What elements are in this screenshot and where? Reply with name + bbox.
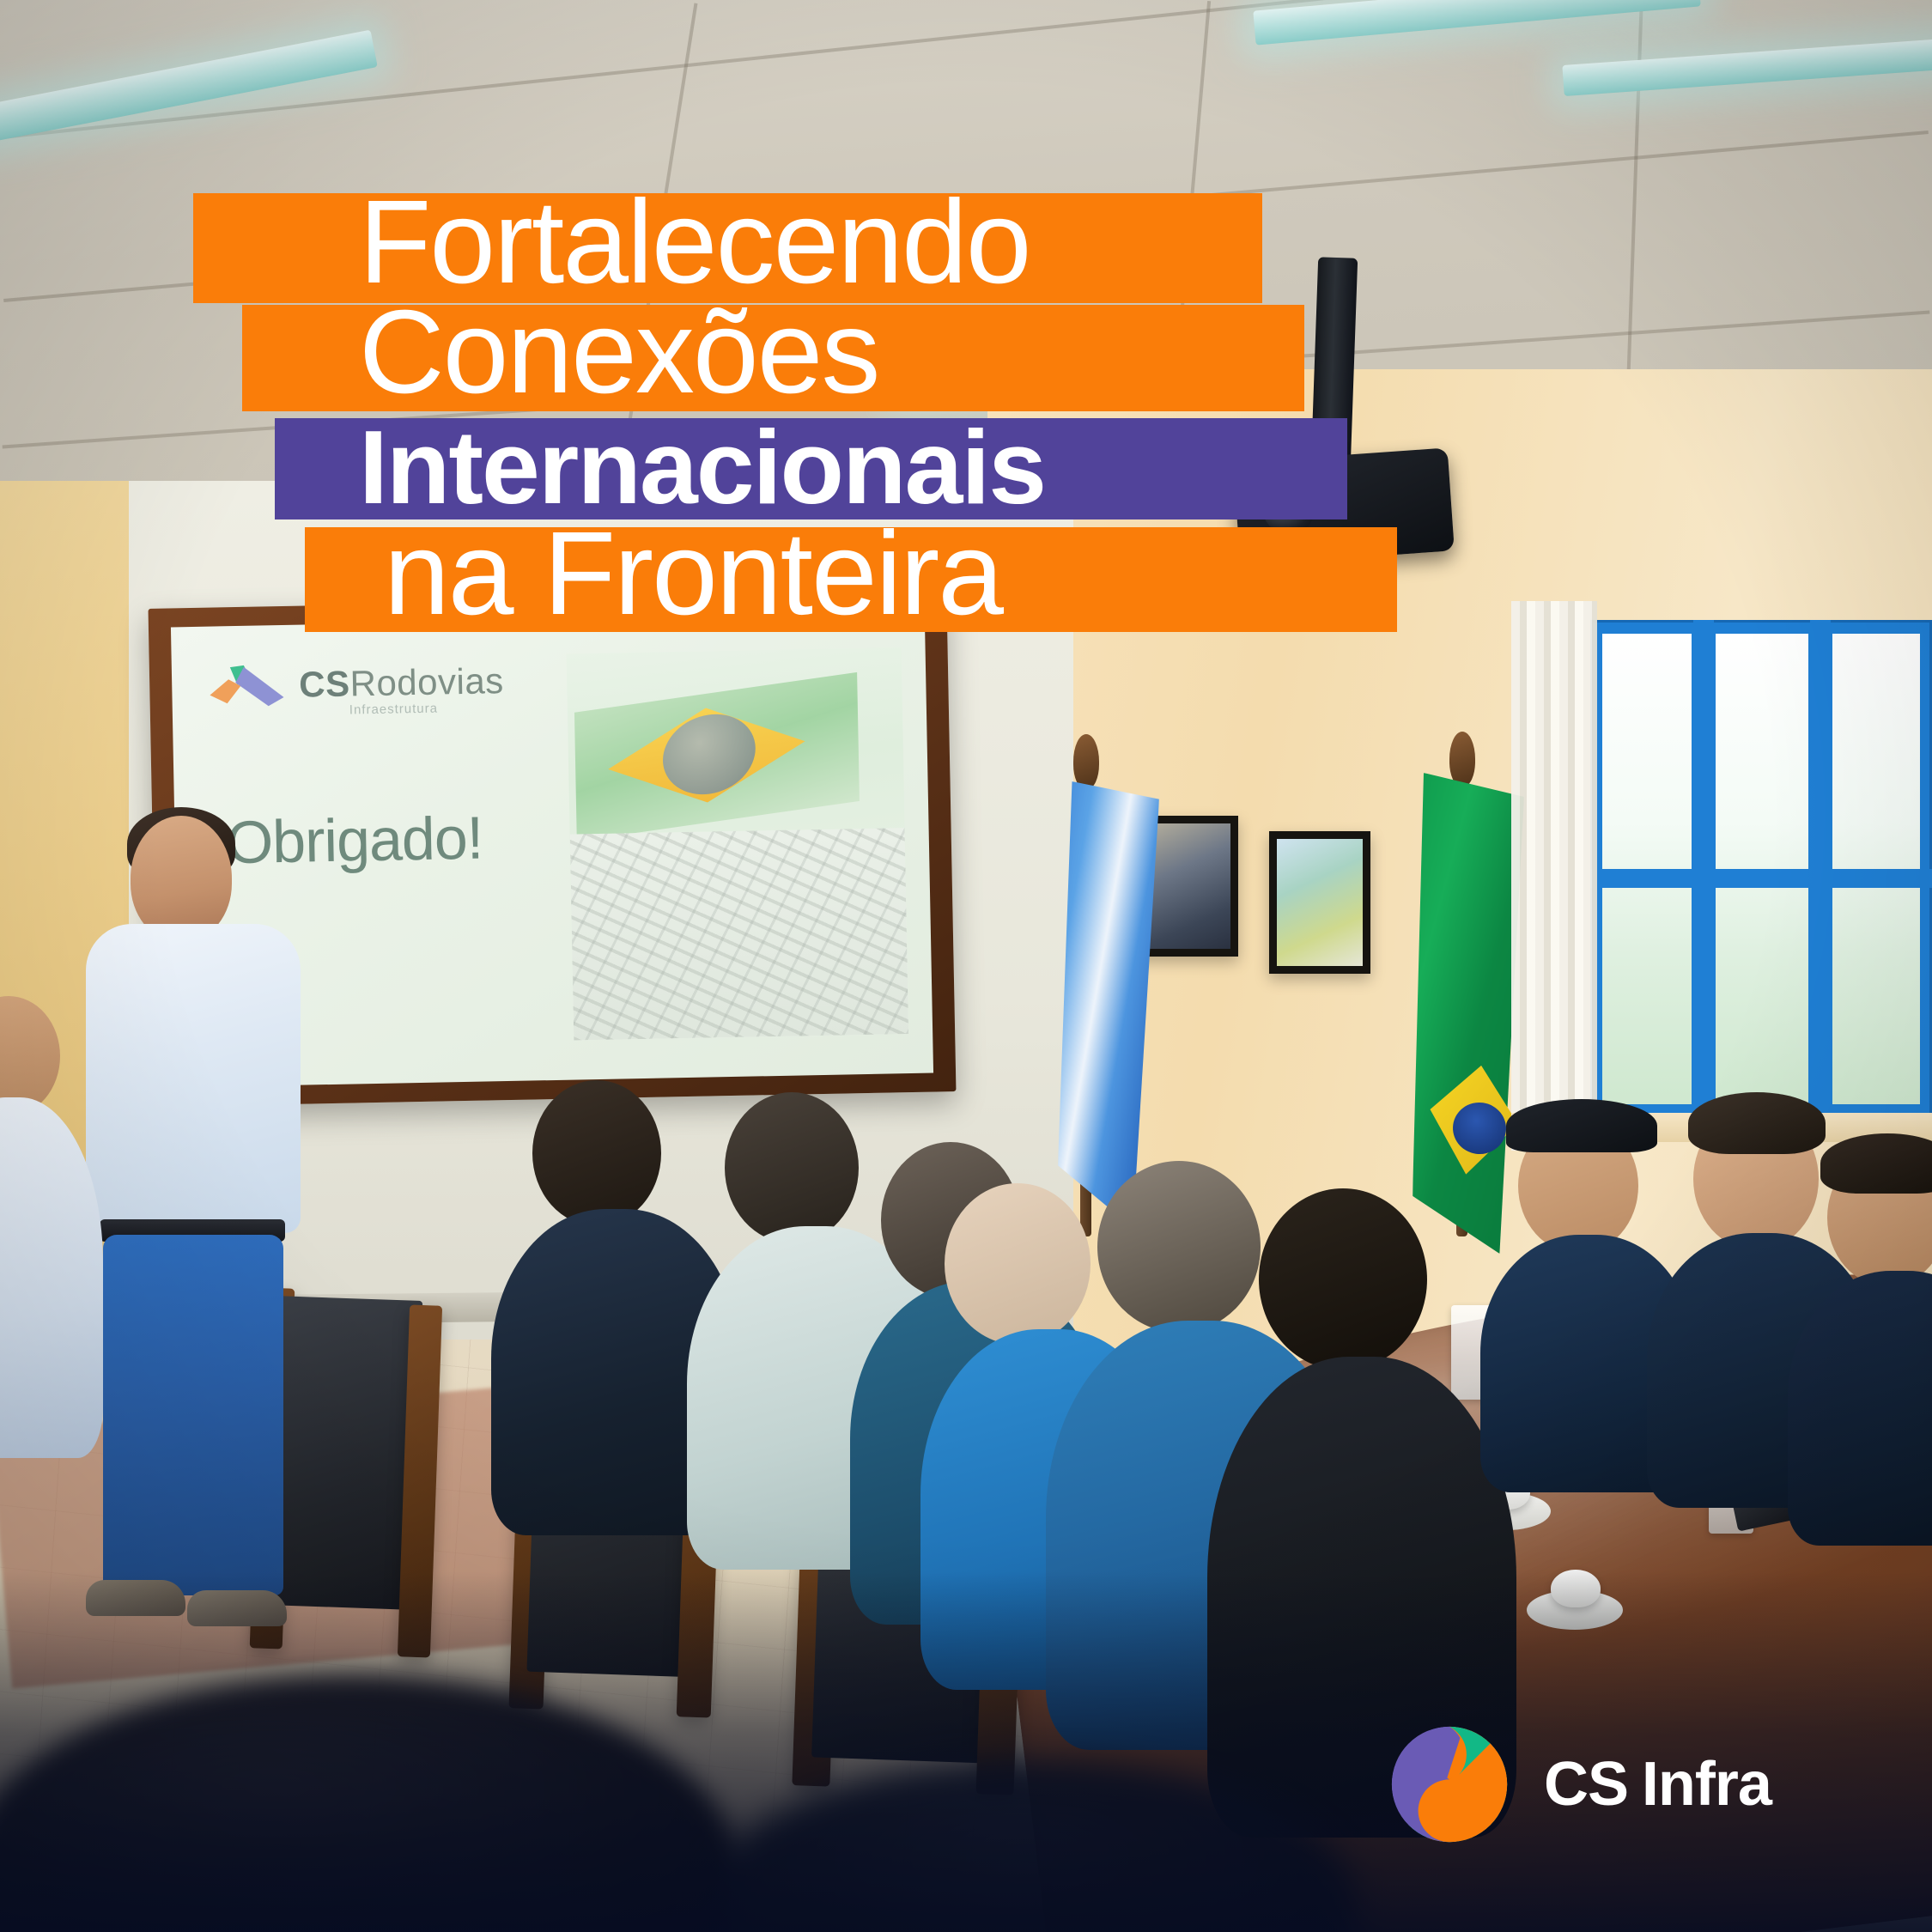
headline-line-1-text: Fortalecendo — [359, 194, 1030, 291]
attendee-jacket — [1788, 1271, 1932, 1546]
attendee-facing — [1810, 1133, 1932, 1511]
cs-rodovias-subtitle: Infraestrutura — [349, 702, 439, 718]
headline-line-3: Internacionais — [275, 418, 1347, 519]
cs-rodovias-wordmark: CSRodovias — [299, 660, 504, 706]
flagpole-finial — [1449, 732, 1475, 787]
attendee-left-edge — [0, 996, 112, 1649]
window-mullion — [1590, 869, 1932, 888]
cs-rodovias-cs: CS — [299, 663, 350, 704]
flagpole-finial — [1073, 734, 1099, 789]
attendee-hat — [1506, 1099, 1657, 1152]
cs-infra-logo: CSInfra — [1389, 1724, 1771, 1844]
attendee-head — [1259, 1188, 1427, 1370]
attendee-hair — [1688, 1092, 1826, 1154]
headline-line-3-text: Internacionais — [359, 424, 1045, 510]
cs-rodovias-logo-icon — [206, 656, 289, 711]
headline-line-2-text: Conexões — [359, 304, 878, 401]
curtain — [1511, 601, 1597, 1151]
presenter-jeans — [103, 1235, 283, 1595]
headline-line-4-text: na Fronteira — [384, 526, 1002, 623]
presenter-shirt — [86, 924, 301, 1233]
cs-infra-wordmark: CSInfra — [1544, 1749, 1771, 1820]
headline-line-2: Conexões — [242, 305, 1304, 411]
headline-line-4: na Fronteira — [305, 527, 1397, 632]
window — [1590, 620, 1932, 1118]
slide-aerial-photo — [570, 828, 909, 1040]
brand-cs: CS — [1544, 1750, 1628, 1819]
presenter — [94, 816, 301, 1631]
cs-rodovias-name: Rodovias — [349, 660, 504, 703]
portrait-image — [1277, 839, 1363, 966]
attendee-shirt — [0, 1097, 103, 1458]
brand-infra: Infra — [1642, 1750, 1771, 1819]
presenter-shoe — [187, 1590, 287, 1626]
attendee-head — [725, 1092, 859, 1243]
social-post-canvas: CSRodovias Infraestrutura Obrigado! — [0, 0, 1932, 1932]
attendee-head — [532, 1080, 661, 1226]
presenter-head — [131, 816, 232, 941]
framed-portrait — [1269, 831, 1370, 974]
cs-infra-logo-icon — [1389, 1724, 1510, 1844]
attendee-hair — [1820, 1133, 1932, 1194]
coffee-cup — [1551, 1570, 1601, 1607]
slide-image — [567, 647, 909, 1040]
